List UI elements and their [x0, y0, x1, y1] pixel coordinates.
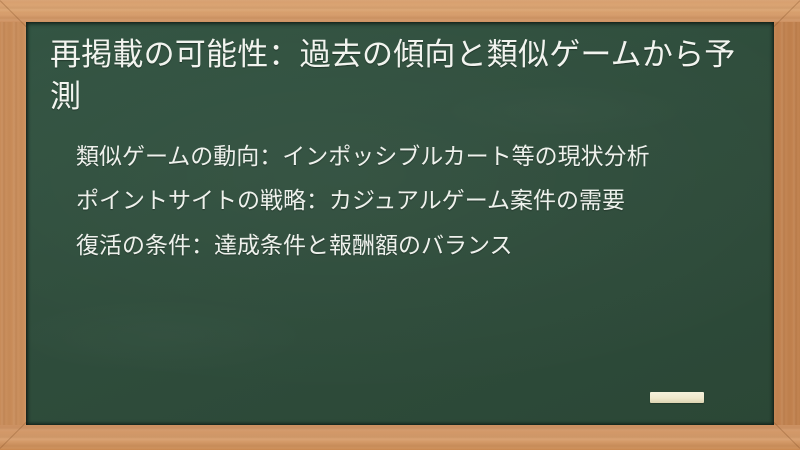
frame-rail-top [0, 0, 800, 22]
slide-title: 再掲載の可能性：過去の傾向と類似ゲームから予測 [48, 34, 750, 118]
bullet-item-1: 類似ゲームの動向：インポッシブルカート等の現状分析 [76, 140, 736, 173]
chalkboard-surface: 再掲載の可能性：過去の傾向と類似ゲームから予測 類似ゲームの動向：インポッシブル… [26, 22, 774, 425]
chalkboard-content: 再掲載の可能性：過去の傾向と類似ゲームから予測 類似ゲームの動向：インポッシブル… [26, 22, 774, 262]
bullet-item-2: ポイントサイトの戦略：カジュアルゲーム案件の需要 [76, 184, 736, 217]
frame-rail-bottom [0, 425, 800, 450]
bullet-item-3: 復活の条件：達成条件と報酬額のバランス [76, 229, 736, 262]
slide-bullet-list: 類似ゲームの動向：インポッシブルカート等の現状分析 ポイントサイトの戦略：カジュ… [48, 140, 752, 262]
chalk-stick [650, 392, 704, 403]
chalkboard-slide: 再掲載の可能性：過去の傾向と類似ゲームから予測 類似ゲームの動向：インポッシブル… [0, 0, 800, 450]
